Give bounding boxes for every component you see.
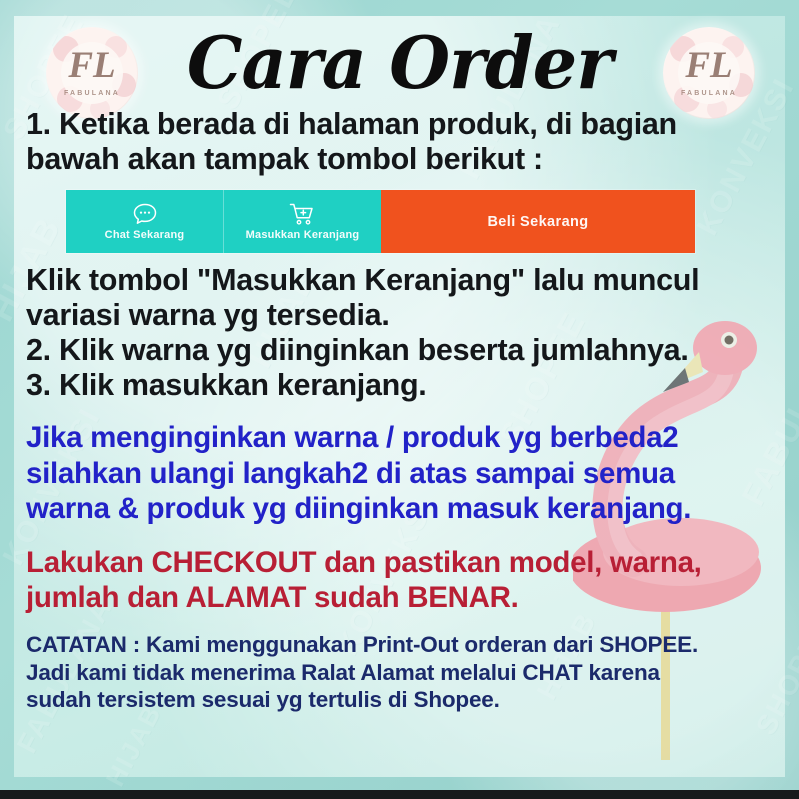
masukkan-keranjang-label: Masukkan Keranjang xyxy=(246,229,360,241)
shopping-cart-plus-icon xyxy=(289,202,316,226)
red-note-line-2: jumlah dan ALAMAT sudah BENAR. xyxy=(26,580,773,615)
chat-sekarang-label: Chat Sekarang xyxy=(105,229,185,241)
footer-note-line-3: sudah tersistem sesuai yg tertulis di Sh… xyxy=(26,686,773,713)
step-1b-line-2: variasi warna yg tersedia. xyxy=(26,298,773,334)
step-1b: Klik tombol "Masukkan Keranjang" lalu mu… xyxy=(26,263,773,334)
page-title: Cara Order xyxy=(37,0,762,99)
step-1-line-2: bawah akan tampak tombol berikut : xyxy=(26,142,773,178)
footer-note-line-2: Jadi kami tidak menerima Ralat Alamat me… xyxy=(26,659,773,686)
step-3: 3. Klik masukkan keranjang. xyxy=(26,368,773,404)
step-1-line-1: 1. Ketika berada di halaman produk, di b… xyxy=(26,107,773,143)
blue-note: Jika menginginkan warna / produk yg berb… xyxy=(26,420,773,526)
bottom-edge-bar xyxy=(0,790,799,799)
step-1: 1. Ketika berada di halaman produk, di b… xyxy=(26,107,773,178)
blue-note-line-3: warna & produk yg diinginkan masuk keran… xyxy=(26,491,773,526)
footer-note: CATATAN : Kami menggunakan Print-Out ord… xyxy=(26,631,773,713)
shopee-action-bar: Chat Sekarang Masukkan Keranjang Beli Se… xyxy=(66,190,695,253)
beli-sekarang-button[interactable]: Beli Sekarang xyxy=(381,190,695,253)
beli-sekarang-label: Beli Sekarang xyxy=(487,214,588,230)
footer-note-line-1: CATATAN : Kami menggunakan Print-Out ord… xyxy=(26,631,773,658)
step-1b-line-1: Klik tombol "Masukkan Keranjang" lalu mu… xyxy=(26,263,773,299)
blue-note-line-2: silahkan ulangi langkah2 di atas sampai … xyxy=(26,456,773,491)
masukkan-keranjang-button[interactable]: Masukkan Keranjang xyxy=(223,190,381,253)
step-2: 2. Klik warna yg diinginkan beserta juml… xyxy=(26,333,773,369)
chat-sekarang-button[interactable]: Chat Sekarang xyxy=(66,190,223,253)
red-note-line-1: Lakukan CHECKOUT dan pastikan model, war… xyxy=(26,545,773,580)
chat-bubble-icon xyxy=(132,202,158,226)
red-note: Lakukan CHECKOUT dan pastikan model, war… xyxy=(26,545,773,616)
poster-content: Cara Order 1. Ketika berada di halaman p… xyxy=(0,0,799,714)
blue-note-line-1: Jika menginginkan warna / produk yg berb… xyxy=(26,420,773,455)
poster-root: SHOPEE HIJAB KONVEKSI FABULANA SHOPEE HI… xyxy=(0,0,799,799)
